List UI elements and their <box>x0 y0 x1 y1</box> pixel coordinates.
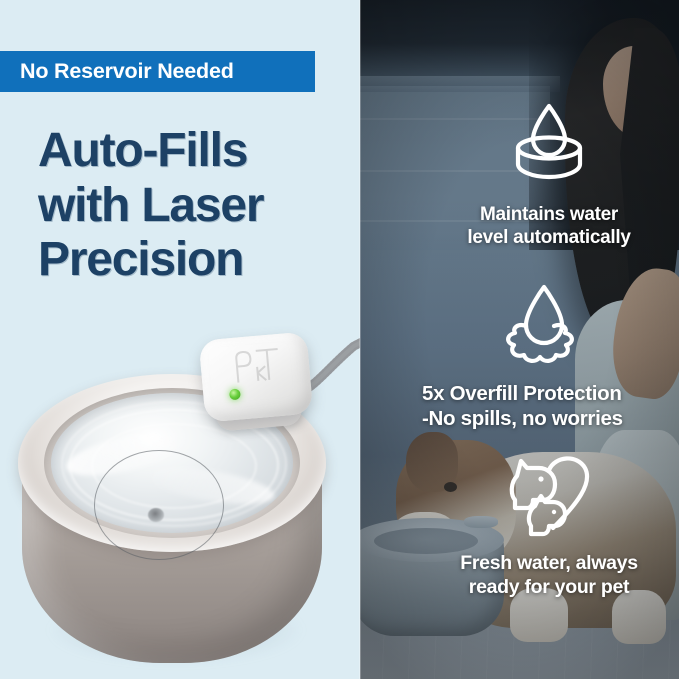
water-bowl-droplet-icon <box>501 98 597 195</box>
water-vortex-center <box>148 508 164 522</box>
feature-line-1: 5x Overfill Protection <box>422 381 623 406</box>
status-led-indicator <box>229 388 241 400</box>
headline-line-1: Auto-Fills <box>38 124 358 179</box>
headline-line-3: Precision <box>38 233 358 288</box>
product-image <box>0 330 360 679</box>
feature-line-2: level automatically <box>467 226 630 249</box>
feature-caption: Fresh water, always ready for your pet <box>460 551 637 599</box>
feature-line-1: Fresh water, always <box>460 551 637 575</box>
icon-row <box>408 278 679 375</box>
feature-maintains-water-level: Maintains water level automatically <box>418 98 679 249</box>
left-panel: No Reservoir Needed Auto-Fills with Lase… <box>0 0 360 679</box>
product-feature-graphic: No Reservoir Needed Auto-Fills with Lase… <box>0 0 679 679</box>
feature-caption: Maintains water level automatically <box>467 203 630 249</box>
feature-overfill-protection: 5x Overfill Protection -No spills, no wo… <box>408 278 679 431</box>
laser-sensor-module <box>199 331 314 422</box>
panel-divider <box>359 0 361 679</box>
feature-line-2: ready for your pet <box>460 575 637 599</box>
badge-label: No Reservoir Needed <box>0 59 234 84</box>
feature-line-1: Maintains water <box>467 203 630 226</box>
status-badge: No Reservoir Needed <box>0 51 315 92</box>
feature-line-2: -No spills, no worries <box>422 406 623 431</box>
feature-fresh-water-ready: Fresh water, always ready for your pet <box>418 448 679 599</box>
page-title: Auto-Fills with Laser Precision <box>38 124 358 288</box>
droplet-splash-icon <box>496 278 592 375</box>
feature-caption: 5x Overfill Protection -No spills, no wo… <box>408 381 623 431</box>
dog-cat-heart-icon <box>497 448 601 545</box>
brand-logo-icon <box>229 344 288 389</box>
headline-line-2: with Laser <box>38 179 358 234</box>
